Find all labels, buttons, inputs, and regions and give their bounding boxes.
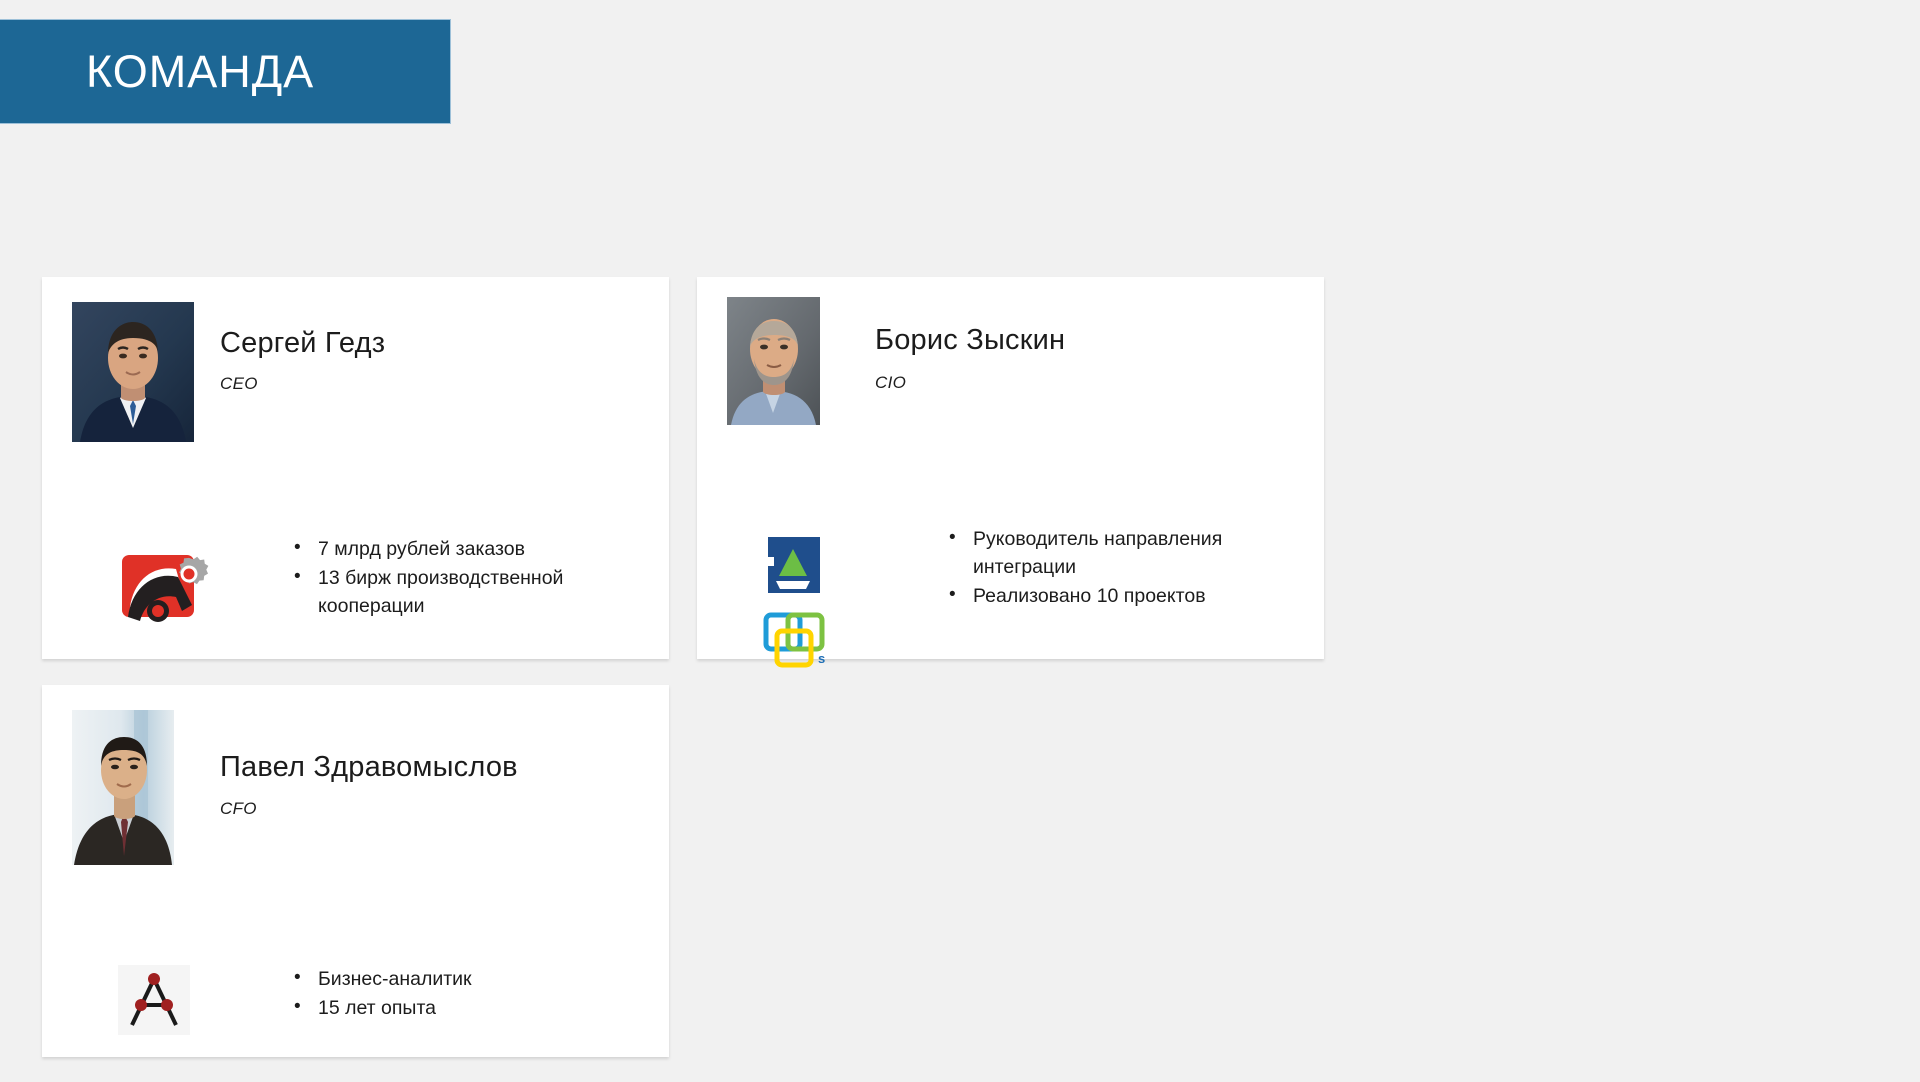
slide-title-banner: КОМАНДА — [0, 19, 451, 124]
blue-square-green-triangle-logo-icon — [762, 535, 824, 597]
avatar — [72, 710, 174, 865]
company-logo-stack — [118, 545, 228, 641]
card-header: Борис Зыскин CIO — [697, 277, 1324, 425]
list-item: Руководитель направления интеграции — [947, 525, 1247, 581]
portrait-photo-icon — [72, 710, 174, 865]
avatar — [72, 302, 194, 442]
page-title: КОМАНДА — [0, 49, 314, 94]
logo-letter: s — [818, 651, 825, 666]
team-member-card[interactable]: Павел Здравомыслов CFO Бизнес-аналитик 1… — [42, 685, 669, 1057]
list-item: 7 млрд рублей заказов — [292, 535, 602, 563]
list-item: Реализовано 10 проектов — [947, 582, 1247, 610]
achievement-list: Бизнес-аналитик 15 лет опыта — [292, 965, 592, 1023]
person-name: Павел Здравомыслов — [220, 751, 518, 784]
person-name: Борис Зыскин — [875, 324, 1065, 357]
company-logo-stack: s — [762, 535, 872, 687]
list-item: Бизнес-аналитик — [292, 965, 592, 993]
triangle-nodes-logo-icon — [118, 965, 190, 1035]
portrait-photo-icon — [72, 302, 194, 442]
team-member-card[interactable]: Сергей Гедз CEO 7 млрд рублей — [42, 277, 669, 659]
gear-factory-logo-icon — [118, 545, 210, 627]
person-role: CIO — [875, 373, 906, 393]
person-role: CFO — [220, 799, 257, 819]
person-name: Сергей Гедз — [220, 327, 385, 360]
person-role: CEO — [220, 374, 258, 394]
team-member-card[interactable]: Борис Зыскин CIO s Руководитель направле… — [697, 277, 1324, 659]
avatar — [727, 297, 820, 425]
card-header: Сергей Гедз CEO — [42, 277, 669, 427]
list-item: 13 бирж производственной кооперации — [292, 564, 602, 620]
company-logo-stack — [118, 965, 228, 1049]
portrait-photo-icon — [727, 297, 820, 425]
list-item: 15 лет опыта — [292, 994, 592, 1022]
achievement-list: 7 млрд рублей заказов 13 бирж производст… — [292, 535, 602, 621]
overlapping-squares-s-logo-icon: s — [762, 611, 830, 673]
achievement-list: Руководитель направления интеграции Реал… — [947, 525, 1247, 611]
card-header: Павел Здравомыслов CFO — [42, 685, 669, 835]
